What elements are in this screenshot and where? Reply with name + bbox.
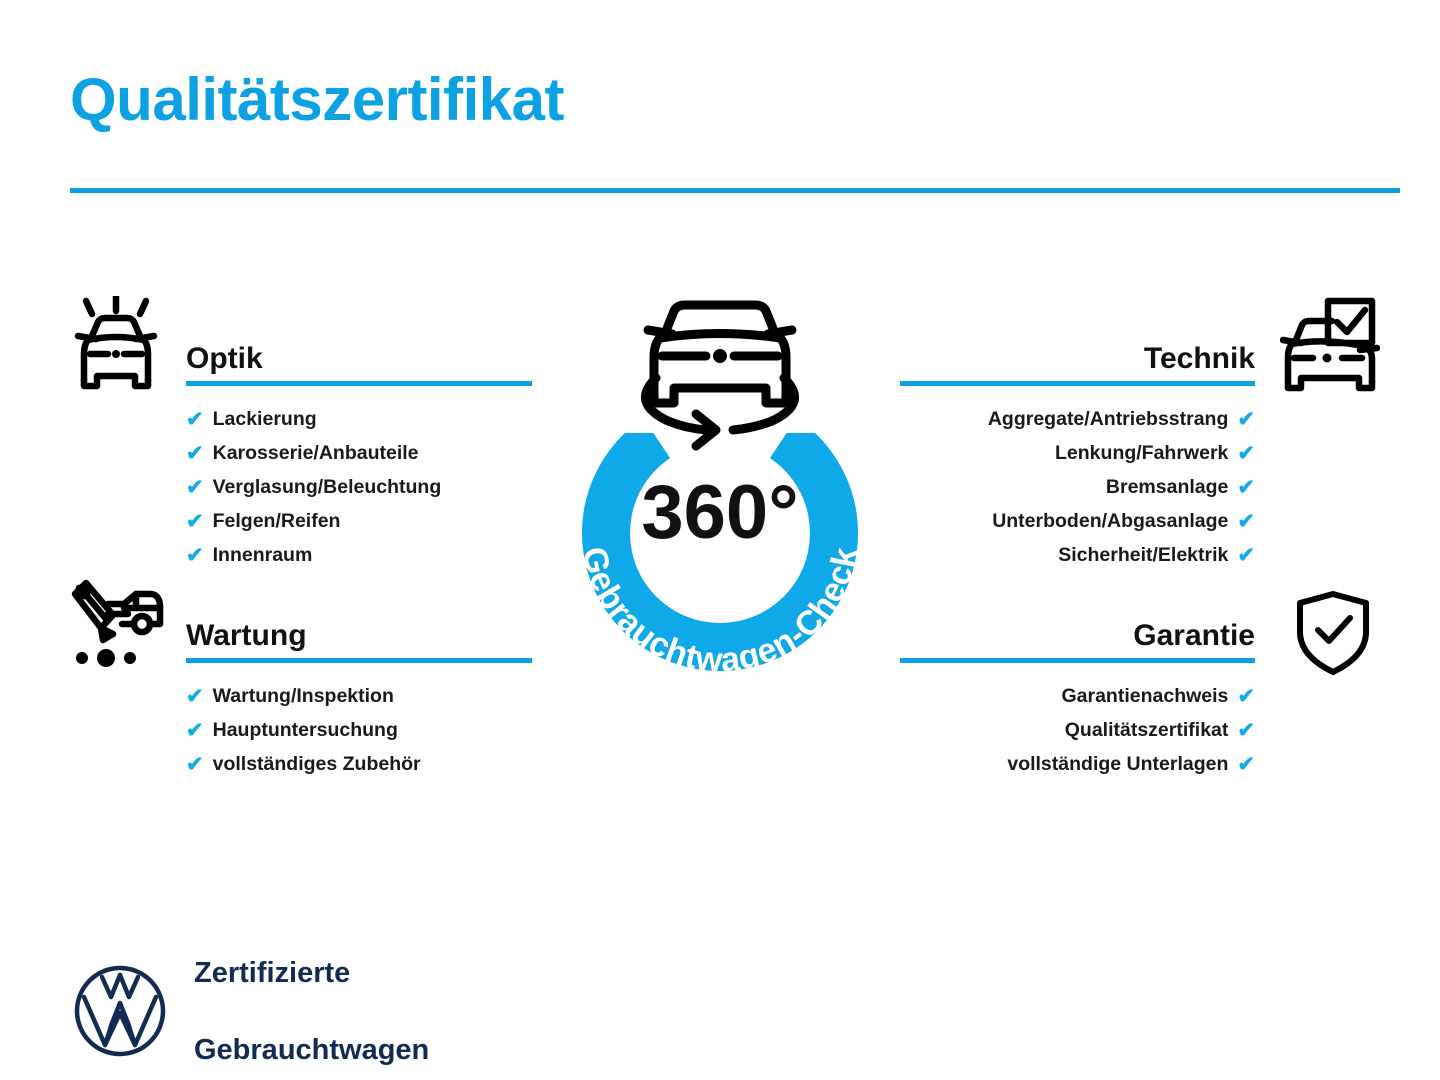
list-item: Aggregate/Antriebsstrang ✔ bbox=[900, 402, 1255, 436]
list-item: Unterboden/Abgasanlage ✔ bbox=[900, 504, 1255, 538]
check-icon: ✔ bbox=[186, 477, 204, 498]
list-item-label: Verglasung/Beleuchtung bbox=[213, 470, 442, 504]
car-front-checkbox-icon bbox=[1280, 296, 1380, 392]
list-item-label: Karosserie/Anbauteile bbox=[213, 436, 419, 470]
footer-line-1: Zertifizierte bbox=[194, 954, 429, 993]
list-item-label: Unterboden/Abgasanlage bbox=[992, 504, 1228, 538]
list-item: ✔ Wartung/Inspektion bbox=[186, 679, 532, 713]
quality-certificate-page: Qualitätszertifikat bbox=[0, 0, 1440, 1080]
list-item-label: Lackierung bbox=[213, 402, 317, 436]
list-item: ✔ Hauptuntersuchung bbox=[186, 713, 532, 747]
list-item-label: vollständige Unterlagen bbox=[1007, 747, 1228, 781]
section-header-optik: Optik bbox=[186, 330, 532, 386]
list-item: vollständige Unterlagen ✔ bbox=[900, 747, 1255, 781]
list-item-label: Garantienachweis bbox=[1061, 679, 1228, 713]
section-title: Garantie bbox=[1133, 619, 1255, 653]
check-icon: ✔ bbox=[1237, 754, 1255, 775]
section-wartung: Wartung ✔ Wartung/Inspektion ✔ Hauptunte… bbox=[186, 607, 532, 781]
list-item-label: vollständiges Zubehör bbox=[213, 747, 421, 781]
list-item-label: Hauptuntersuchung bbox=[213, 713, 398, 747]
list-item-label: Lenkung/Fahrwerk bbox=[1055, 436, 1228, 470]
page-title: Qualitätszertifikat bbox=[70, 68, 564, 131]
list-item: Sicherheit/Elektrik ✔ bbox=[900, 538, 1255, 572]
check-icon: ✔ bbox=[186, 443, 204, 464]
list-item: ✔ Innenraum bbox=[186, 538, 532, 572]
check-icon: ✔ bbox=[1237, 409, 1255, 430]
footer-brand: Zertifizierte Gebrauchtwagen bbox=[72, 915, 429, 1080]
list-item: ✔ Felgen/Reifen bbox=[186, 504, 532, 538]
check-icon: ✔ bbox=[1237, 511, 1255, 532]
list-item-label: Felgen/Reifen bbox=[213, 504, 341, 538]
badge-center-label: 360° bbox=[641, 470, 798, 555]
section-divider bbox=[186, 381, 532, 386]
check-icon: ✔ bbox=[1237, 545, 1255, 566]
check-icon: ✔ bbox=[1237, 720, 1255, 741]
list-item: Lenkung/Fahrwerk ✔ bbox=[900, 436, 1255, 470]
list-item-label: Innenraum bbox=[213, 538, 313, 572]
footer-brand-text: Zertifizierte Gebrauchtwagen bbox=[194, 915, 429, 1080]
checklist-garantie: Garantienachweis ✔ Qualitätszertifikat ✔… bbox=[900, 679, 1255, 781]
pen-car-service-icon bbox=[64, 578, 168, 674]
section-optik: Optik ✔ Lackierung ✔ Karosserie/Anbautei… bbox=[186, 330, 532, 572]
section-technik: Technik Aggregate/Antriebsstrang ✔ Lenku… bbox=[900, 330, 1255, 572]
section-garantie: Garantie Garantienachweis ✔ Qualitätszer… bbox=[900, 607, 1255, 781]
list-item: Garantienachweis ✔ bbox=[900, 679, 1255, 713]
checklist-technik: Aggregate/Antriebsstrang ✔ Lenkung/Fahrw… bbox=[900, 402, 1255, 572]
list-item: ✔ Lackierung bbox=[186, 402, 532, 436]
check-icon: ✔ bbox=[1237, 686, 1255, 707]
check-icon: ✔ bbox=[1237, 477, 1255, 498]
footer-line-2: Gebrauchtwagen bbox=[194, 1031, 429, 1070]
list-item-label: Aggregate/Antriebsstrang bbox=[988, 402, 1229, 436]
checklist-wartung: ✔ Wartung/Inspektion ✔ Hauptuntersuchung… bbox=[186, 679, 532, 781]
section-title: Technik bbox=[1144, 342, 1255, 376]
check-icon: ✔ bbox=[1237, 443, 1255, 464]
list-item-label: Sicherheit/Elektrik bbox=[1058, 538, 1228, 572]
list-item: ✔ vollständiges Zubehör bbox=[186, 747, 532, 781]
section-title: Optik bbox=[186, 342, 263, 376]
section-header-garantie: Garantie bbox=[900, 607, 1255, 663]
checklist-optik: ✔ Lackierung ✔ Karosserie/Anbauteile ✔ V… bbox=[186, 402, 532, 572]
list-item-label: Qualitätszertifikat bbox=[1065, 713, 1229, 747]
check-icon: ✔ bbox=[186, 754, 204, 775]
list-item: ✔ Karosserie/Anbauteile bbox=[186, 436, 532, 470]
check-icon: ✔ bbox=[186, 545, 204, 566]
list-item: ✔ Verglasung/Beleuchtung bbox=[186, 470, 532, 504]
check-icon: ✔ bbox=[186, 720, 204, 741]
list-item-label: Wartung/Inspektion bbox=[213, 679, 394, 713]
list-item: Qualitätszertifikat ✔ bbox=[900, 713, 1255, 747]
section-divider bbox=[900, 658, 1255, 663]
shield-check-icon bbox=[1294, 590, 1372, 676]
gebrauchtwagen-check-badge: Gebrauchtwagen-Check 360° bbox=[520, 283, 920, 703]
list-item: Bremsanlage ✔ bbox=[900, 470, 1255, 504]
section-title: Wartung bbox=[186, 619, 307, 653]
volkswagen-logo bbox=[72, 963, 168, 1059]
section-divider bbox=[900, 381, 1255, 386]
list-item-label: Bremsanlage bbox=[1106, 470, 1228, 504]
car-front-shine-icon bbox=[64, 296, 168, 392]
section-divider bbox=[186, 658, 532, 663]
check-icon: ✔ bbox=[186, 511, 204, 532]
check-icon: ✔ bbox=[186, 409, 204, 430]
check-icon: ✔ bbox=[186, 686, 204, 707]
section-header-wartung: Wartung bbox=[186, 607, 532, 663]
section-header-technik: Technik bbox=[900, 330, 1255, 386]
header-divider bbox=[70, 188, 1400, 193]
